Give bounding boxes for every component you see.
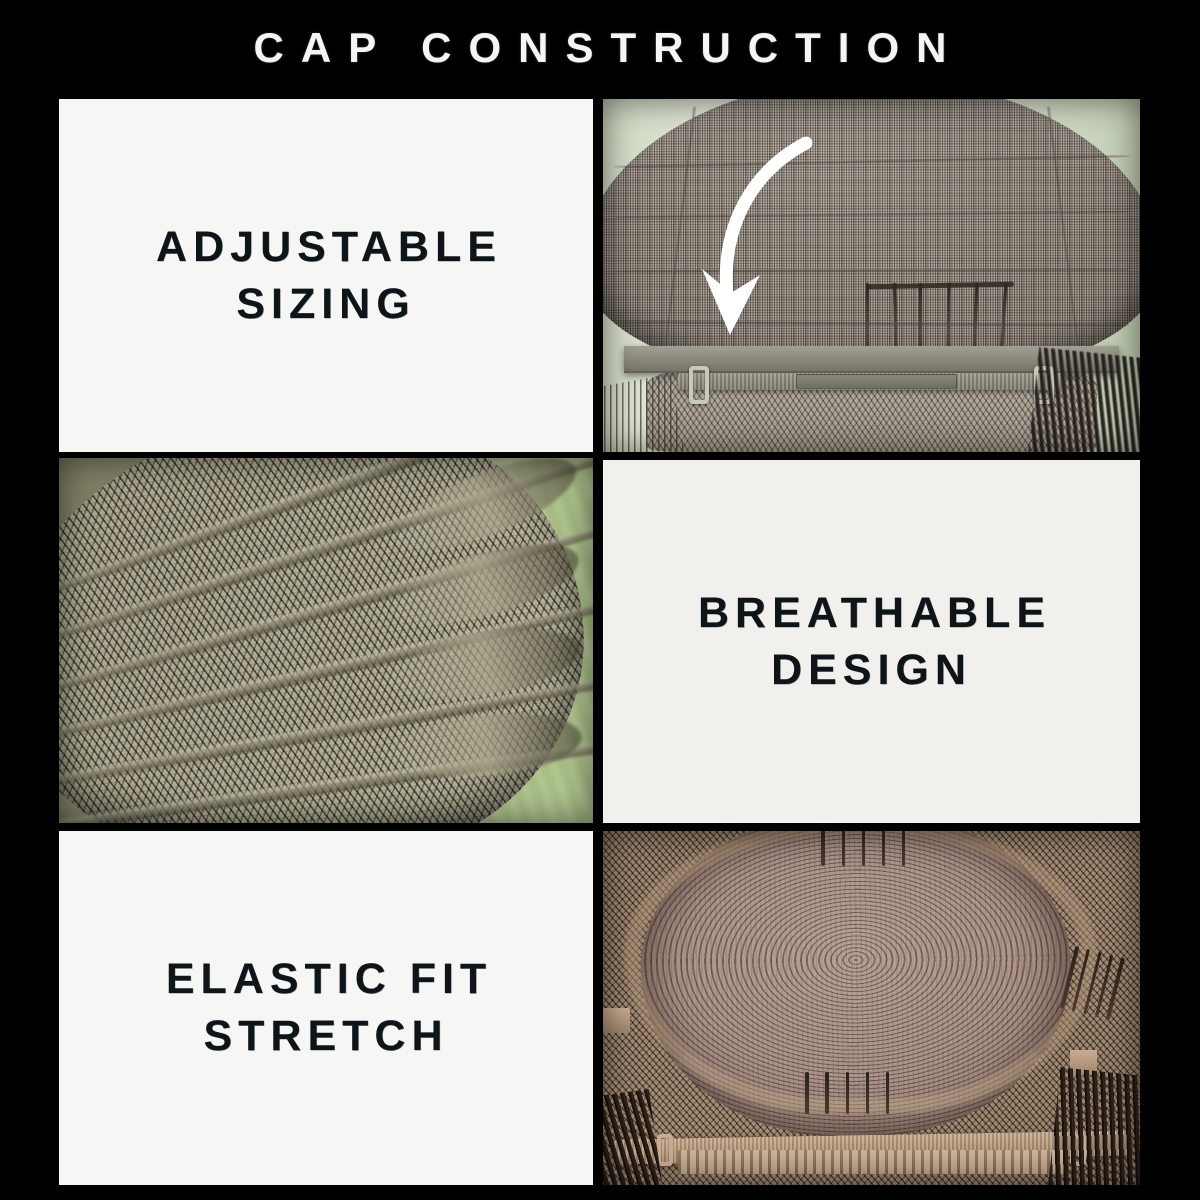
feature-card-adjustable-sizing: ADJUSTABLE SIZING bbox=[59, 99, 593, 452]
feature-label-line-1: ADJUSTABLE bbox=[156, 223, 502, 271]
feature-label-line-1: ELASTIC FIT bbox=[166, 955, 492, 1003]
feature-grid: ADJUSTABLE SIZING bbox=[59, 99, 1140, 1185]
feature-photo-wig-cap-back-adjustable-strap bbox=[603, 99, 1140, 452]
photo-surface bbox=[59, 458, 593, 823]
page-title: CAP CONSTRUCTION bbox=[237, 27, 964, 69]
photo-surface bbox=[603, 99, 1140, 452]
feature-label-breathable-design: BREATHABLE DESIGN bbox=[674, 585, 1069, 699]
feature-label-line-2: DESIGN bbox=[771, 646, 972, 694]
elastic-tab bbox=[603, 1008, 630, 1033]
feature-card-elastic-fit-stretch: ELASTIC FIT STRETCH bbox=[59, 831, 593, 1185]
feature-label-line-2: SIZING bbox=[236, 280, 415, 328]
cap-comb-top bbox=[818, 831, 909, 866]
header: CAP CONSTRUCTION bbox=[0, 0, 1200, 95]
strap-nape-band bbox=[678, 1150, 1065, 1175]
feature-photo-wig-cap-interior-elastic-straps bbox=[603, 831, 1140, 1185]
feature-label-line-2: STRETCH bbox=[203, 1012, 448, 1060]
feature-label-line-1: BREATHABLE bbox=[698, 589, 1051, 637]
cap-comb-bottom bbox=[802, 1072, 893, 1114]
hair-strands bbox=[1048, 1067, 1140, 1185]
feature-label-elastic-fit-stretch: ELASTIC FIT STRETCH bbox=[142, 951, 510, 1065]
curved-down-arrow-icon bbox=[603, 99, 1140, 452]
infographic-canvas: CAP CONSTRUCTION ADJUSTABLE SIZING bbox=[0, 0, 1200, 1200]
feature-card-breathable-design: BREATHABLE DESIGN bbox=[603, 460, 1140, 823]
feature-label-adjustable-sizing: ADJUSTABLE SIZING bbox=[132, 219, 520, 333]
feature-photo-breathable-mesh-close-up bbox=[59, 458, 593, 823]
photo-surface bbox=[603, 831, 1140, 1185]
